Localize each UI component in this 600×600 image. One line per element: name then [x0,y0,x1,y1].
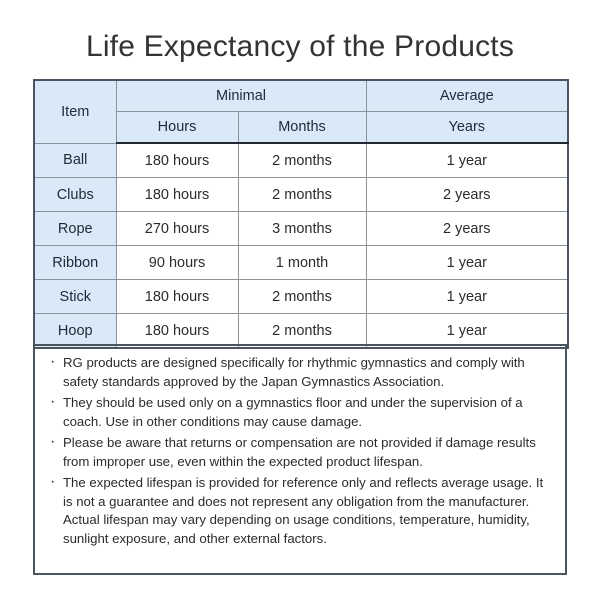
table-row: Hoop 180 hours 2 months 1 year [34,314,568,349]
column-header-average: Average [366,80,568,112]
list-item: Please be aware that returns or compensa… [45,434,553,471]
cell-item: Ball [34,143,116,178]
column-header-months: Months [238,112,366,144]
life-expectancy-table: Item Minimal Average Hours Months Years … [33,79,569,349]
product-lifespan-document: Life Expectancy of the Products Item Min… [0,0,600,600]
cell-hours: 180 hours [116,280,238,314]
table-header: Item Minimal Average Hours Months Years [34,80,568,143]
column-header-years: Years [366,112,568,144]
column-header-minimal: Minimal [116,80,366,112]
list-item: The expected lifespan is provided for re… [45,474,553,548]
cell-hours: 270 hours [116,212,238,246]
cell-years: 1 year [366,143,568,178]
table-row: Ribbon 90 hours 1 month 1 year [34,246,568,280]
cell-months: 2 months [238,143,366,178]
cell-years: 1 year [366,280,568,314]
notes-list: RG products are designed specifically fo… [45,354,553,548]
cell-months: 2 months [238,280,366,314]
table-row: Ball 180 hours 2 months 1 year [34,143,568,178]
table-body: Ball 180 hours 2 months 1 year Clubs 180… [34,143,568,348]
life-expectancy-table-container: Item Minimal Average Hours Months Years … [33,79,567,349]
cell-months: 2 months [238,314,366,349]
cell-item: Stick [34,280,116,314]
list-item: They should be used only on a gymnastics… [45,394,553,431]
column-header-hours: Hours [116,112,238,144]
cell-hours: 90 hours [116,246,238,280]
cell-item: Clubs [34,178,116,212]
cell-hours: 180 hours [116,314,238,349]
table-header-row-group: Item Minimal Average [34,80,568,112]
cell-years: 1 year [366,246,568,280]
page-title: Life Expectancy of the Products [0,28,600,66]
table-row: Clubs 180 hours 2 months 2 years [34,178,568,212]
cell-item: Ribbon [34,246,116,280]
cell-years: 2 years [366,212,568,246]
table-row: Stick 180 hours 2 months 1 year [34,280,568,314]
cell-hours: 180 hours [116,178,238,212]
table-row: Rope 270 hours 3 months 2 years [34,212,568,246]
cell-hours: 180 hours [116,143,238,178]
cell-years: 1 year [366,314,568,349]
cell-months: 2 months [238,178,366,212]
cell-months: 3 months [238,212,366,246]
cell-years: 2 years [366,178,568,212]
cell-item: Hoop [34,314,116,349]
cell-item: Rope [34,212,116,246]
cell-months: 1 month [238,246,366,280]
list-item: RG products are designed specifically fo… [45,354,553,391]
column-header-item: Item [34,80,116,143]
notes-box: RG products are designed specifically fo… [33,344,567,575]
